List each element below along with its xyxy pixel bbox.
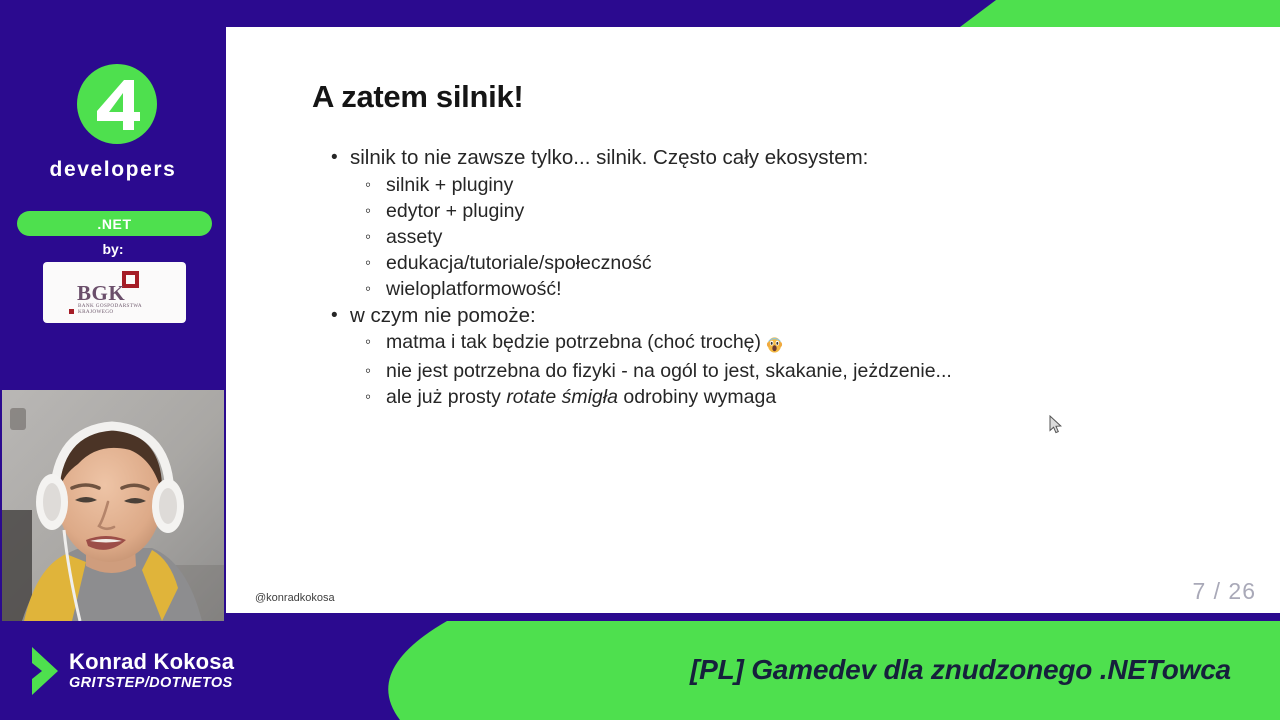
slide-footer-handle: @konradkokosa [255,592,335,604]
by-label: by: [0,241,226,257]
sub-bullet-item: wieloplatformowość! [362,276,1246,302]
sub-bullet-text: nie jest potrzebna do fizyki - na ogól t… [386,360,952,382]
brand-sidebar: developers .NET by: BGK BANK GOSPODARSTW… [0,0,226,388]
face-screaming-in-fear-icon [766,335,783,354]
talk-title: [PL] Gamedev dla znudzonego .NETowca [690,654,1231,686]
sub-bullet-item: edukacja/tutoriale/społeczność [362,250,1246,276]
sub-bullet-text: edytor + pluginy [386,200,524,222]
sub-bullet-text: ale już prosty [386,386,506,408]
slide-canvas: A zatem silnik! silnik to nie zawsze tyl… [226,27,1280,613]
speaker-name: Konrad Kokosa [69,649,234,675]
mouse-pointer-icon [1049,415,1063,440]
net-badge: .NET [17,211,212,236]
bgk-subtitle-line2: KRAJOWEGO [78,309,113,315]
presentation-screen: developers .NET by: BGK BANK GOSPODARSTW… [0,0,1280,720]
net-badge-label: .NET [97,216,131,232]
slide-body: silnik to nie zawsze tylko... silnik. Cz… [326,145,1246,411]
sub-bullet-emphasis: rotate śmigła [506,386,618,408]
bullet-item: silnik to nie zawsze tylko... silnik. Cz… [326,145,1246,302]
bullet-text: w czym nie pomoże: [350,304,536,327]
slide-title: A zatem silnik! [312,79,523,115]
sub-bullet-text-tail: odrobiny wymaga [618,386,776,408]
sub-bullet-text: edukacja/tutoriale/społeczność [386,252,652,274]
sub-bullet-item: matma i tak będzie potrzebna (choć troch… [362,329,1246,358]
speaker-webcam[interactable] [2,390,224,621]
sub-bullet-text: silnik + pluginy [386,174,513,196]
slide-page-number: 7 / 26 [1192,578,1256,605]
sub-bullet-item: nie jest potrzebna do fizyki - na ogól t… [362,358,1246,384]
sponsor-logo-bgk: BGK BANK GOSPODARSTWA KRAJOWEGO [43,262,186,323]
top-right-green-accent [960,0,1280,27]
bullet-text: silnik to nie zawsze tylko... silnik. Cz… [350,146,868,169]
sub-bullet-text: wieloplatformowość! [386,278,562,300]
four-logo-icon [77,64,157,144]
lower-third-bar: Konrad Kokosa GRITSTEP/DOTNETOS [PL] Gam… [0,621,1280,720]
bullet-list-level2: matma i tak będzie potrzebna (choć troch… [362,329,1246,410]
bullet-list-level2: silnik + pluginy edytor + pluginy assety… [362,172,1246,302]
sub-bullet-item: ale już prosty rotate śmigła odrobiny wy… [362,384,1246,410]
sub-bullet-text: assety [386,226,442,248]
sub-bullet-text: matma i tak będzie potrzebna (choć troch… [386,331,766,353]
sub-bullet-item: silnik + pluginy [362,172,1246,198]
bullet-item: w czym nie pomoże: matma i tak będzie po… [326,303,1246,411]
sub-bullet-item: edytor + pluginy [362,198,1246,224]
sub-bullet-item: assety [362,224,1246,250]
chevron-right-icon [30,645,60,702]
bullet-list-level1: silnik to nie zawsze tylko... silnik. Cz… [326,145,1246,410]
speaker-org: GRITSTEP/DOTNETOS [69,675,233,691]
brand-word: developers [0,158,226,182]
bgk-dot-icon [69,309,74,314]
